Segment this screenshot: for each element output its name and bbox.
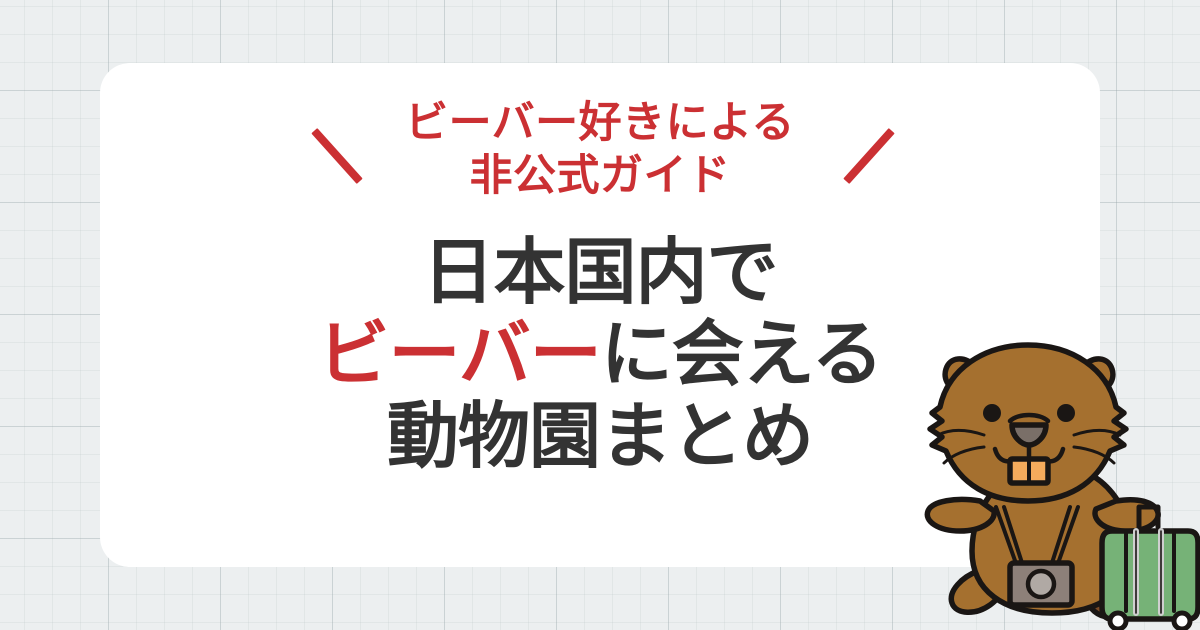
beaver-mascot-illustration — [900, 325, 1200, 630]
kicker-text: ビーバー好きによる 非公式ガイド — [0, 97, 1200, 203]
suitcase-wheel-left — [1110, 613, 1126, 629]
beaver-eye-right — [1057, 404, 1075, 422]
headline-highlight: ビーバー — [317, 315, 600, 395]
beaver-nose — [1012, 425, 1046, 445]
beaver-arm-left — [927, 499, 994, 531]
page-background: ビーバー好きによる 非公式ガイド 日本国内で ビーバーに会える 動物園まとめ — [0, 0, 1200, 630]
beaver-arm-right — [1095, 500, 1158, 532]
suitcase-wheel-right — [1174, 613, 1190, 629]
headline-line-1: 日本国内で — [0, 232, 1200, 314]
suitcase-body — [1102, 531, 1198, 619]
camera-lens-icon — [1028, 571, 1054, 597]
headline-line-2-rest: に会える — [601, 315, 883, 395]
beaver-eye-left — [983, 404, 1001, 422]
